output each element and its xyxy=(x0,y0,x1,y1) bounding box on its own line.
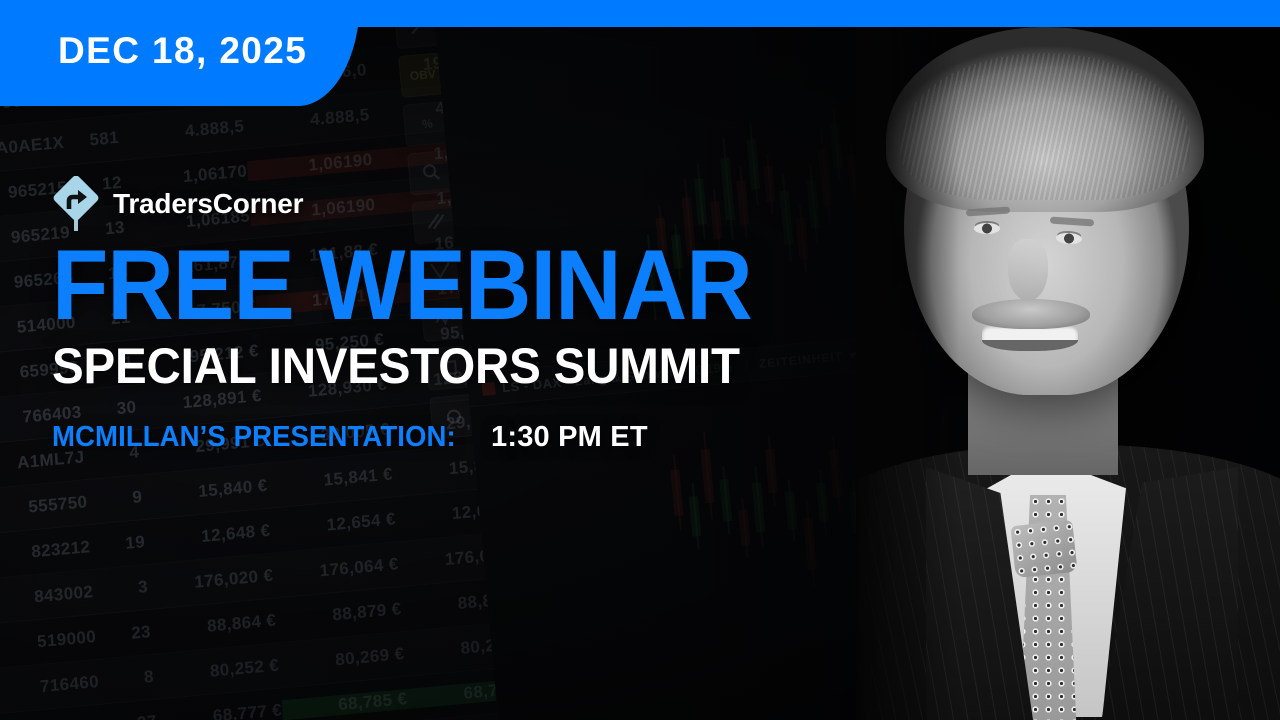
speaker-portrait xyxy=(856,27,1280,720)
brand-lockup: TradersCorner xyxy=(50,176,303,232)
promo-banner: ustria96942058119.856,019.856,019.856,00… xyxy=(0,0,1280,720)
portrait-eye-left xyxy=(974,223,1000,234)
portrait-hair xyxy=(886,27,1204,212)
portrait-nose xyxy=(1008,239,1048,301)
brand-name: TradersCorner xyxy=(113,188,303,220)
subheadline-text: SPECIAL INVESTORS SUMMIT xyxy=(52,341,767,391)
headline-block: FREE WEBINAR SPECIAL INVESTORS SUMMIT MC… xyxy=(52,236,805,454)
date-tab: DEC 18, 2025 xyxy=(0,0,360,106)
presentation-time-label: MCMILLAN’S PRESENTATION: xyxy=(52,421,456,454)
date-text: DEC 18, 2025 xyxy=(58,32,307,75)
presentation-time-value: 1:30 PM ET xyxy=(491,421,648,454)
portrait-mustache xyxy=(972,299,1090,329)
headline-text: FREE WEBINAR xyxy=(52,236,752,333)
right-turn-road-sign-icon xyxy=(50,176,102,232)
presentation-time-row: MCMILLAN’S PRESENTATION: 1:30 PM ET xyxy=(52,421,805,454)
portrait-tie-knot xyxy=(1010,520,1077,578)
